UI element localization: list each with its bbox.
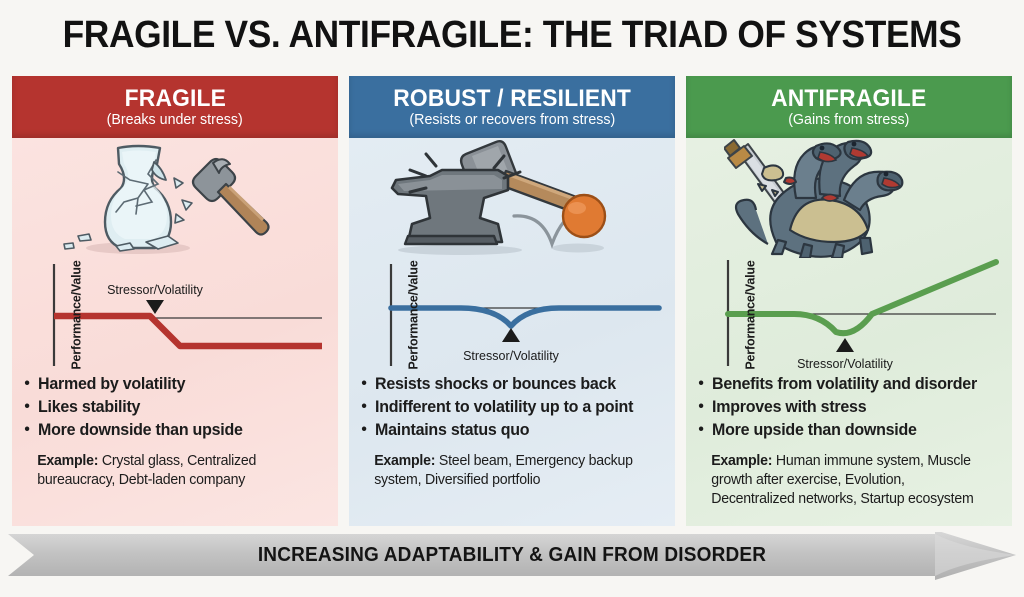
column-body-fragile: Stressor/Volatility Performance/Value Ha…	[12, 138, 338, 526]
cracked-vase-and-hammer-icon	[50, 138, 300, 256]
illustration-antifragile	[686, 138, 1012, 256]
page-title: FRAGILE VS. ANTIFRAGILE: THE TRIAD OF SY…	[36, 14, 988, 57]
list-item: More downside than upside	[38, 420, 319, 442]
column-fragile: FRAGILE (Breaks under stress)	[12, 76, 338, 526]
stressor-marker-icon	[502, 328, 520, 342]
stressor-label: Stressor/Volatility	[107, 283, 204, 297]
list-item: More upside than downside	[712, 420, 993, 442]
stressor-label: Stressor/Volatility	[797, 357, 894, 371]
list-item: Harmed by volatility	[38, 374, 319, 396]
anvil-icon	[392, 170, 508, 244]
column-header-fragile: FRAGILE (Breaks under stress)	[12, 76, 338, 138]
chart-antifragile: Stressor/Volatility Performance/Value	[686, 256, 1012, 374]
antifragile-curve	[728, 262, 996, 333]
column-subtitle: (Gains from stress)	[788, 112, 909, 129]
column-body-robust: Stressor/Volatility Performance/Value Re…	[349, 138, 675, 526]
triad-columns: FRAGILE (Breaks under stress)	[12, 76, 1012, 526]
example-label: Example:	[37, 453, 98, 469]
illustration-fragile	[12, 138, 338, 256]
robust-curve	[391, 308, 659, 326]
list-item: Likes stability	[38, 397, 319, 419]
list-item: Benefits from volatility and disorder	[712, 374, 993, 396]
example-robust: Example: Steel beam, Emergency backup sy…	[349, 452, 665, 489]
column-subtitle: (Resists or recovers from stress)	[409, 112, 615, 129]
footer-arrow-banner: INCREASING ADAPTABILITY & GAIN FROM DISO…	[0, 532, 1024, 588]
illustration-robust	[349, 138, 675, 256]
bullet-list-fragile: Harmed by volatility Likes stability Mor…	[12, 374, 338, 441]
list-item: Indifferent to volatility up to a point	[375, 397, 656, 419]
column-subtitle: (Breaks under stress)	[107, 112, 243, 129]
y-axis-label: Performance/Value	[70, 260, 84, 369]
example-label: Example:	[374, 453, 435, 469]
infographic-canvas: FRAGILE VS. ANTIFRAGILE: THE TRIAD OF SY…	[0, 0, 1024, 597]
bullet-list-robust: Resists shocks or bounces back Indiffere…	[349, 374, 675, 441]
column-robust: ROBUST / RESILIENT (Resists or recovers …	[349, 76, 675, 526]
hydra-dragon-and-sword-icon	[724, 138, 974, 258]
stressor-label: Stressor/Volatility	[463, 349, 560, 363]
example-fragile: Example: Crystal glass, Centralized bure…	[12, 452, 328, 489]
column-title: FRAGILE	[124, 86, 225, 111]
hammer-icon	[193, 159, 269, 235]
fragile-curve	[54, 316, 322, 346]
example-label: Example:	[711, 453, 772, 469]
list-item: Maintains status quo	[375, 420, 656, 442]
anvil-hammer-and-bouncing-ball-icon	[382, 138, 642, 256]
stressor-marker-icon	[836, 338, 854, 352]
ball-icon	[563, 195, 605, 237]
column-title: ROBUST / RESILIENT	[393, 86, 631, 111]
column-antifragile: ANTIFRAGILE (Gains from stress)	[686, 76, 1012, 526]
example-antifragile: Example: Human immune system, Muscle gro…	[686, 452, 1002, 508]
y-axis-label: Performance/Value	[744, 260, 758, 369]
bullet-list-antifragile: Benefits from volatility and disorder Im…	[686, 374, 1012, 441]
column-title: ANTIFRAGILE	[771, 86, 926, 111]
column-header-robust: ROBUST / RESILIENT (Resists or recovers …	[349, 76, 675, 138]
list-item: Resists shocks or bounces back	[375, 374, 656, 396]
y-axis-label: Performance/Value	[407, 260, 421, 369]
footer-arrow-label: INCREASING ADAPTABILITY & GAIN FROM DISO…	[26, 532, 999, 578]
column-body-antifragile: Stressor/Volatility Performance/Value Be…	[686, 138, 1012, 526]
list-item: Improves with stress	[712, 397, 993, 419]
stressor-marker-icon	[146, 300, 164, 314]
chart-fragile: Stressor/Volatility Performance/Value	[12, 256, 338, 374]
chart-robust: Stressor/Volatility Performance/Value	[349, 256, 675, 374]
column-header-antifragile: ANTIFRAGILE (Gains from stress)	[686, 76, 1012, 138]
